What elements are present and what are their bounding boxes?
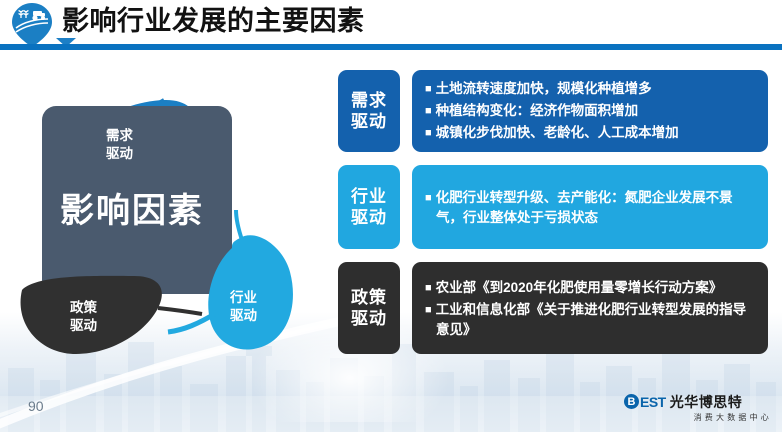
bullet-item: ■种植结构变化：经济作物面积增加: [425, 101, 756, 121]
factor-row-industry: 行业 驱动 ■化肥行业转型升级、去产能化：氮肥企业发展不景气，行业整体处于亏损状…: [338, 165, 768, 249]
slide-header: 影响行业发展的主要因素: [0, 0, 782, 52]
bullet-square-icon: ■: [425, 83, 432, 95]
factor-tag-policy: 政策 驱动: [338, 262, 400, 354]
factor-rows: 需求 驱动 ■土地流转速度加快，规模化种植增多 ■种植结构变化：经济作物面积增加…: [338, 70, 768, 367]
bullet-text: 种植结构变化：经济作物面积增加: [436, 103, 639, 118]
bullet-item: ■土地流转速度加快，规模化种植增多: [425, 79, 756, 99]
factor-body-industry: ■化肥行业转型升级、去产能化：氮肥企业发展不景气，行业整体处于亏损状态: [412, 165, 768, 249]
petal-industry-label-1: 行业: [229, 289, 257, 305]
petal-policy-label-2: 驱动: [70, 317, 97, 333]
page-title: 影响行业发展的主要因素: [62, 2, 365, 40]
factor-row-policy: 政策 驱动 ■农业部《到2020年化肥使用量零增长行动方案》 ■工业和信息化部《…: [338, 262, 768, 354]
bullet-text: 土地流转速度加快，规模化种植增多: [436, 81, 652, 96]
brand-logo-top: B EST 光华博思特: [624, 392, 774, 411]
factor-tag-policy-line2: 驱动: [351, 308, 387, 329]
bullet-item: ■城镇化步伐加快、老龄化、人工成本增加: [425, 123, 756, 143]
page-number: 90: [28, 398, 44, 414]
bullet-item: ■农业部《到2020年化肥使用量零增长行动方案》: [425, 278, 756, 298]
farm-location-pin-icon: [10, 2, 54, 48]
brand-subtitle: 消费大数据中心: [624, 412, 774, 423]
petal-demand-label-1: 需求: [106, 127, 133, 143]
factor-tag-demand-line1: 需求: [351, 90, 387, 111]
influence-factors-diagram: 影响因素 需求 驱动 行业 驱动 政策 驱动: [18, 62, 330, 362]
brand-latin: EST: [640, 394, 666, 410]
factor-tag-industry-line2: 驱动: [351, 207, 387, 228]
factor-tag-demand-line2: 驱动: [351, 111, 387, 132]
factor-tag-demand: 需求 驱动: [338, 70, 400, 152]
bullet-item: ■工业和信息化部《关于推进化肥行业转型发展的指导意见》: [425, 300, 756, 339]
bullet-square-icon: ■: [425, 282, 432, 294]
factor-row-demand: 需求 驱动 ■土地流转速度加快，规模化种植增多 ■种植结构变化：经济作物面积增加…: [338, 70, 768, 152]
bullet-square-icon: ■: [425, 127, 432, 139]
brand-chinese-name: 光华博思特: [670, 392, 743, 412]
bullet-square-icon: ■: [425, 192, 432, 204]
petal-demand-label-2: 驱动: [106, 145, 133, 161]
factor-body-demand: ■土地流转速度加快，规模化种植增多 ■种植结构变化：经济作物面积增加 ■城镇化步…: [412, 70, 768, 152]
bullet-text: 化肥行业转型升级、去产能化：氮肥企业发展不景气，行业整体处于亏损状态: [436, 190, 733, 225]
brand-logo: B EST 光华博思特 消费大数据中心: [624, 392, 774, 426]
bullet-square-icon: ■: [425, 304, 432, 316]
factor-tag-policy-line1: 政策: [351, 287, 387, 308]
bullet-item: ■化肥行业转型升级、去产能化：氮肥企业发展不景气，行业整体处于亏损状态: [425, 188, 756, 227]
bullet-text: 城镇化步伐加快、老龄化、人工成本增加: [436, 125, 679, 140]
factor-body-policy: ■农业部《到2020年化肥使用量零增长行动方案》 ■工业和信息化部《关于推进化肥…: [412, 262, 768, 354]
factor-tag-industry-line1: 行业: [351, 186, 387, 207]
bullet-square-icon: ■: [425, 105, 432, 117]
diagram-core-label: 影响因素: [60, 192, 204, 230]
title-rule: [0, 44, 782, 50]
slide: 影响行业发展的主要因素: [0, 0, 782, 432]
petal-policy-label-1: 政策: [70, 299, 97, 315]
petal-industry-label-2: 驱动: [230, 307, 257, 323]
bullet-text: 农业部《到2020年化肥使用量零增长行动方案》: [436, 280, 723, 295]
bullet-text: 工业和信息化部《关于推进化肥行业转型发展的指导意见》: [436, 302, 747, 337]
brand-mark-icon: B: [624, 394, 639, 409]
factor-tag-industry: 行业 驱动: [338, 165, 400, 249]
